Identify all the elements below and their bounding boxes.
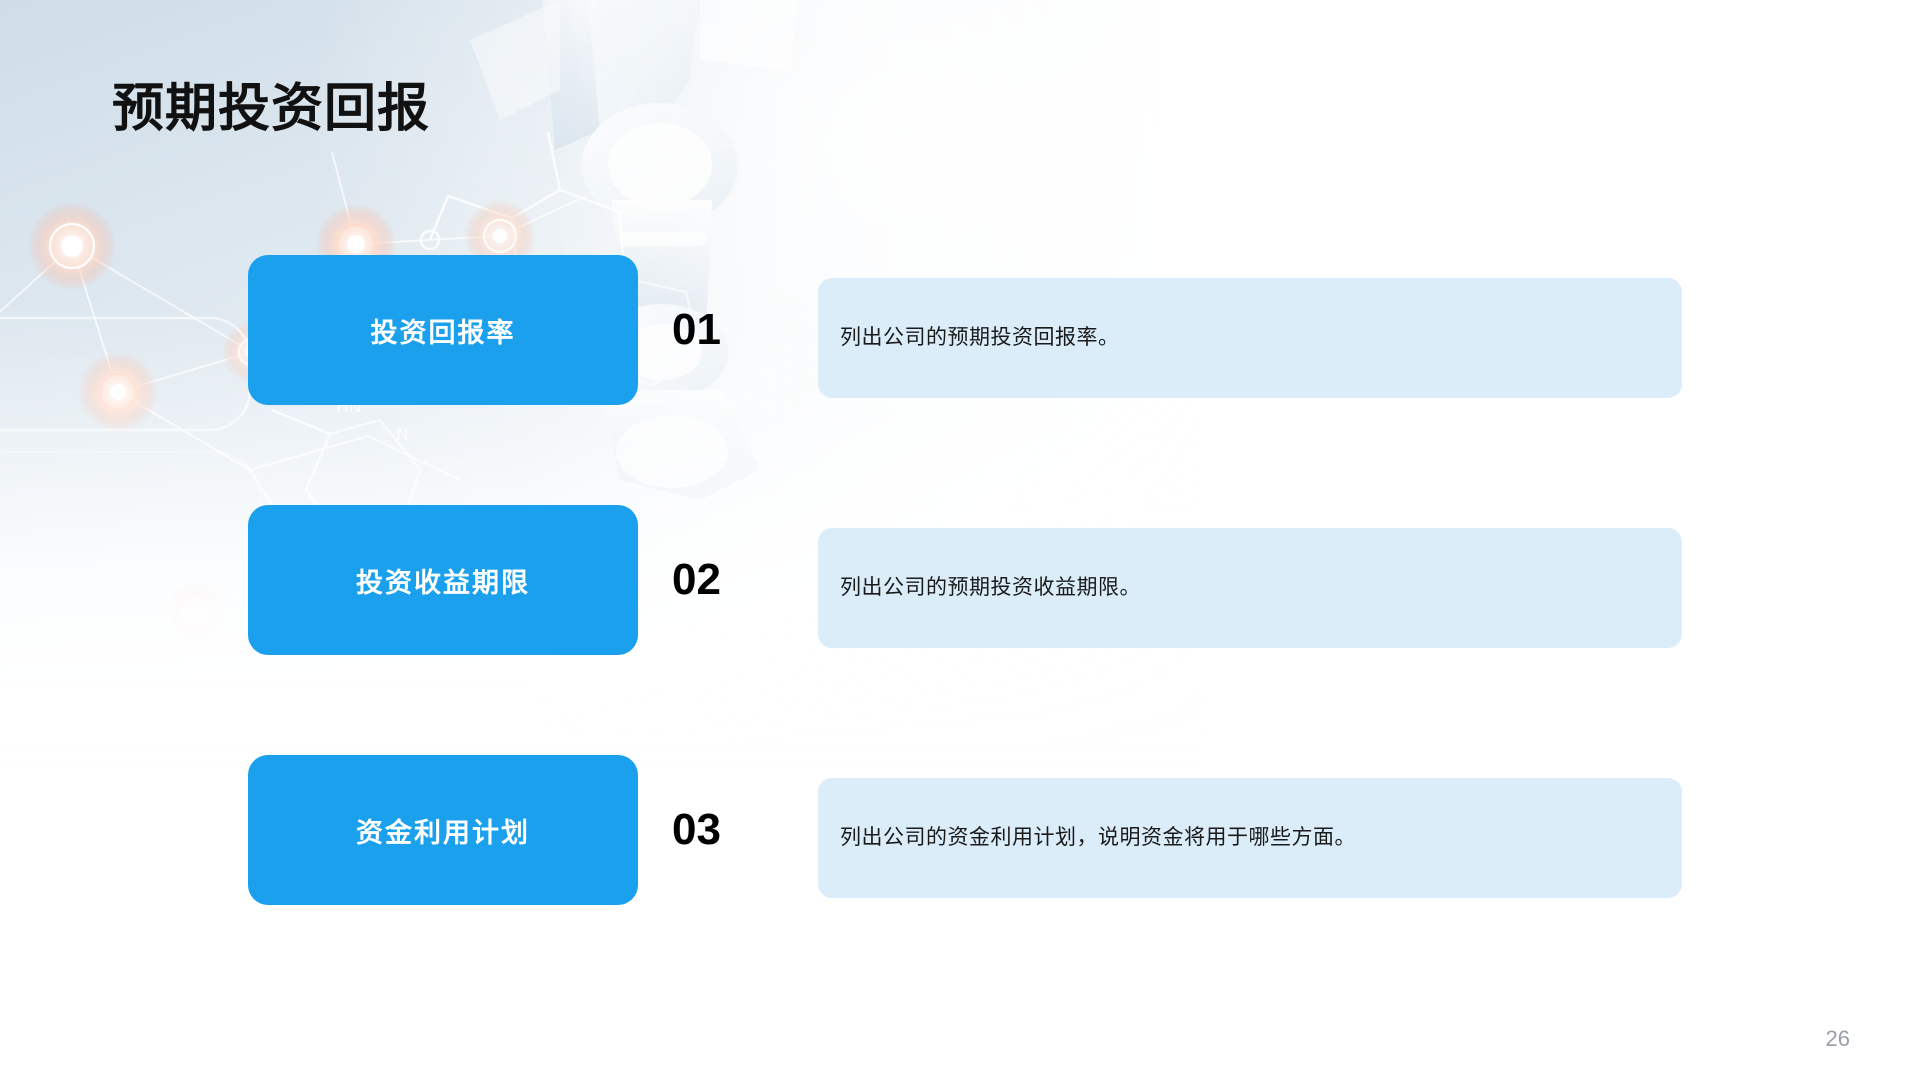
label-box-fund-usage-plan[interactable]: 资金利用计划 — [248, 755, 638, 905]
page-number: 26 — [1826, 1026, 1850, 1052]
label-box-text: 资金利用计划 — [356, 811, 530, 850]
content-row: 投资收益期限 02 列出公司的预期投资收益期限。 — [0, 505, 1920, 695]
content-row: 投资回报率 01 列出公司的预期投资回报率。 — [0, 255, 1920, 445]
page-title: 预期投资回报 — [112, 78, 430, 140]
description-box-02: 列出公司的预期投资收益期限。 — [818, 528, 1682, 648]
description-text: 列出公司的预期投资收益期限。 — [818, 572, 1141, 604]
content-row: 资金利用计划 03 列出公司的资金利用计划，说明资金将用于哪些方面。 — [0, 755, 1920, 945]
presentation-slide: HN F N — [0, 0, 1920, 1080]
description-text: 列出公司的资金利用计划，说明资金将用于哪些方面。 — [818, 822, 1356, 854]
label-box-investment-return-rate[interactable]: 投资回报率 — [248, 255, 638, 405]
index-number-02: 02 — [672, 505, 782, 655]
index-number-01: 01 — [672, 255, 782, 405]
description-box-01: 列出公司的预期投资回报率。 — [818, 278, 1682, 398]
label-box-text: 投资收益期限 — [356, 561, 530, 600]
label-box-text: 投资回报率 — [371, 311, 516, 350]
description-box-03: 列出公司的资金利用计划，说明资金将用于哪些方面。 — [818, 778, 1682, 898]
index-number-03: 03 — [672, 755, 782, 905]
label-box-investment-return-period[interactable]: 投资收益期限 — [248, 505, 638, 655]
description-text: 列出公司的预期投资回报率。 — [818, 322, 1120, 354]
